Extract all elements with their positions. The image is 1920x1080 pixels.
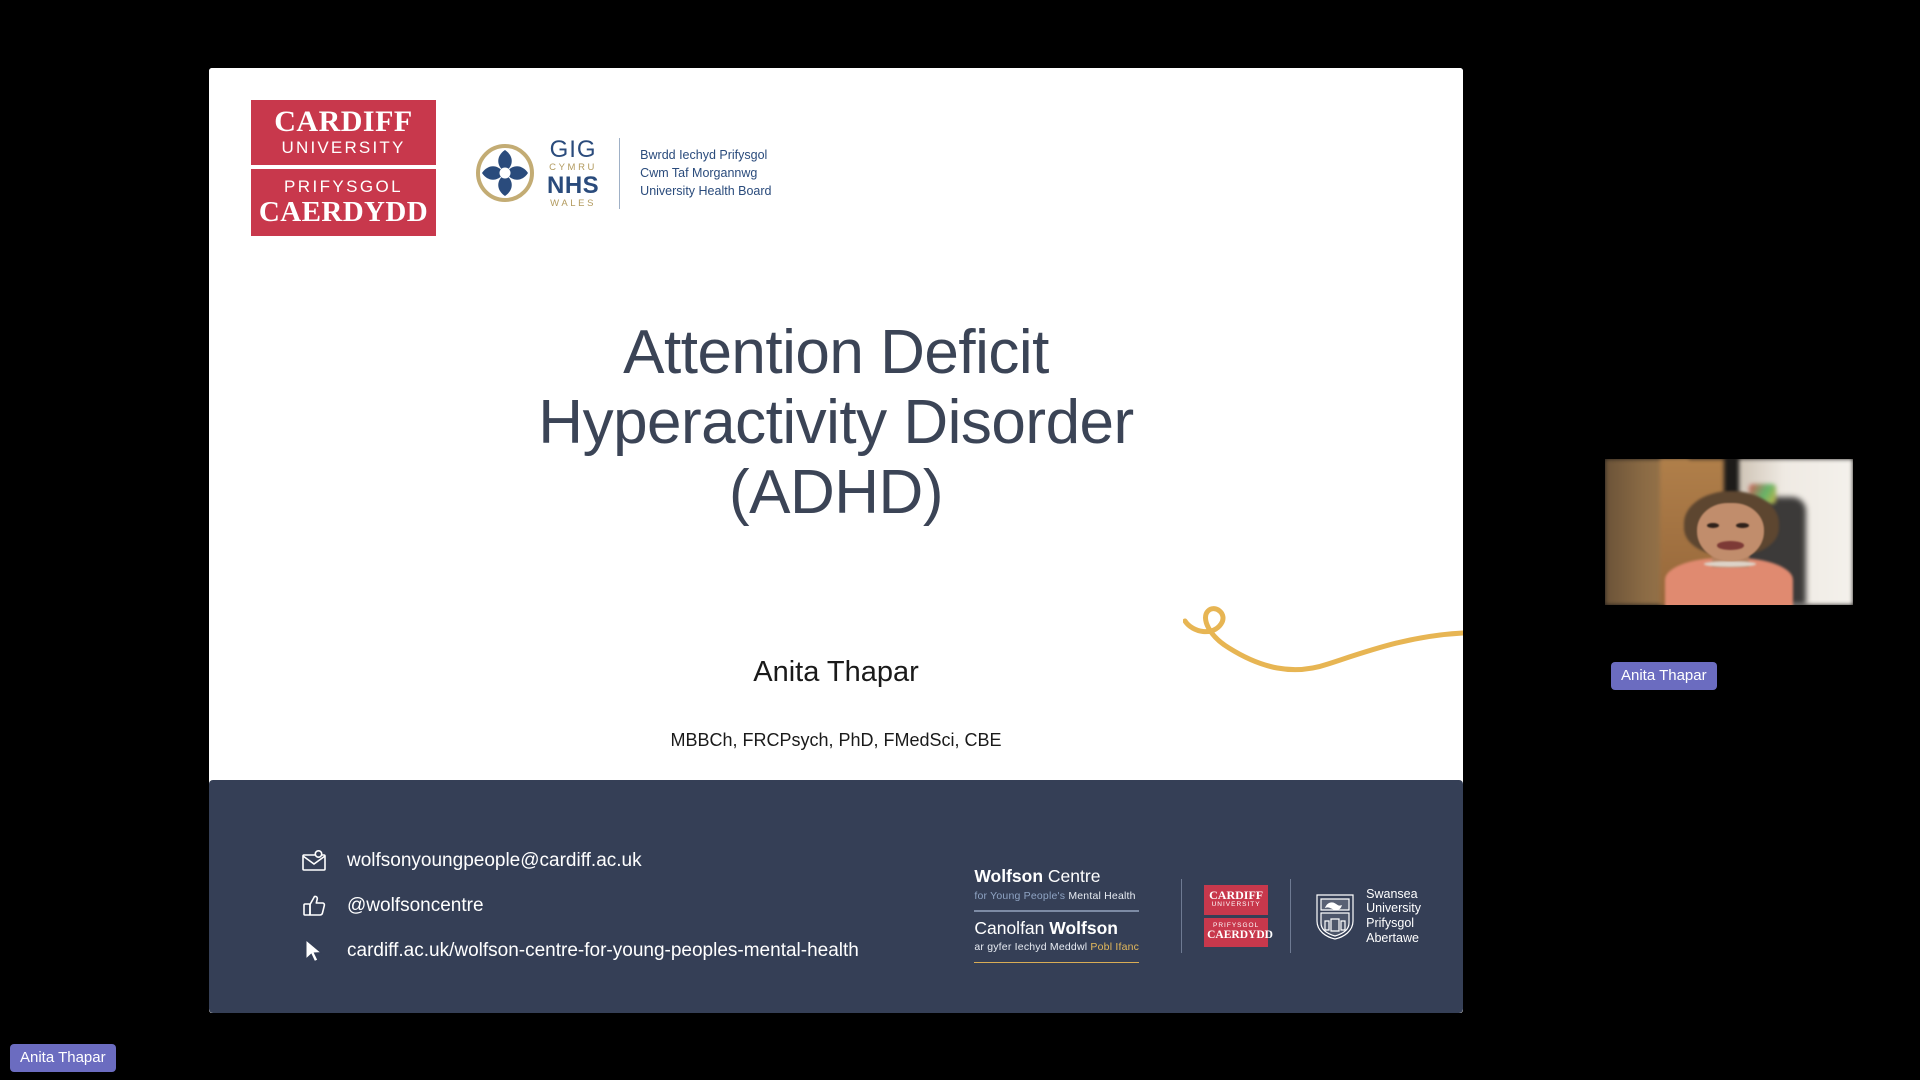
logo-divider bbox=[619, 138, 620, 209]
swansea-line-1: Swansea bbox=[1366, 887, 1421, 902]
slide-title-line-3: (ADHD) bbox=[329, 458, 1343, 528]
participant-video-tile[interactable] bbox=[1605, 459, 1853, 605]
wolfson-welsh-light: Canolfan bbox=[974, 918, 1049, 938]
nhs-wales-text: WALES bbox=[550, 199, 596, 209]
thumbs-up-icon bbox=[301, 893, 327, 919]
wolfson-strap-3: Mental Health bbox=[1065, 890, 1136, 902]
cardiff-footer-english: CARDIFF UNIVERSITY bbox=[1204, 885, 1268, 914]
health-board-line-2: Cwm Taf Morgannwg bbox=[640, 164, 771, 182]
swansea-university-name: Swansea University Prifysgol Abertawe bbox=[1366, 887, 1421, 946]
wolfson-gold-rule bbox=[974, 962, 1139, 964]
meeting-stage: CARDIFF UNIVERSITY PRIFYSGOL CAERDYDD bbox=[0, 0, 1920, 1080]
health-board-line-3: University Health Board bbox=[640, 182, 771, 200]
swansea-university-logo: Swansea University Prifysgol Abertawe bbox=[1313, 887, 1421, 946]
slide-content-area: CARDIFF UNIVERSITY PRIFYSGOL CAERDYDD bbox=[209, 68, 1463, 783]
slide-title: Attention Deficit Hyperactivity Disorder… bbox=[329, 318, 1343, 528]
contact-email[interactable]: wolfsonyoungpeople@cardiff.ac.uk bbox=[301, 848, 859, 874]
cursor-pointer-icon bbox=[301, 938, 327, 964]
cardiff-logo-line-3: PRIFYSGOL bbox=[284, 176, 403, 198]
presentation-slide[interactable]: CARDIFF UNIVERSITY PRIFYSGOL CAERDYDD bbox=[209, 68, 1463, 1013]
swansea-crest-icon bbox=[1313, 891, 1357, 941]
wolfson-welsh-strap-2: Pobl Ifanc bbox=[1090, 941, 1139, 953]
contact-email-text: wolfsonyoungpeople@cardiff.ac.uk bbox=[347, 850, 642, 872]
celtic-knot-icon bbox=[474, 142, 536, 204]
contact-social-text: @wolfsoncentre bbox=[347, 895, 484, 917]
participant-webcam-image bbox=[1605, 459, 1853, 605]
participant-face bbox=[1697, 503, 1764, 561]
nhs-wordmark: GIG CYMRU NHS WALES bbox=[547, 138, 599, 209]
wolfson-strap-1: for bbox=[974, 890, 990, 902]
nhs-gig-text: GIG bbox=[550, 138, 597, 162]
participant-mouth bbox=[1717, 541, 1744, 550]
cardiff-logo-welsh: PRIFYSGOL CAERDYDD bbox=[251, 169, 436, 236]
partner-logos: Wolfson Centre for Young People's Mental… bbox=[974, 867, 1421, 965]
cardiff-logo-line-4: CAERDYDD bbox=[259, 198, 428, 227]
cardiff-footer-line-4: CAERDYDD bbox=[1207, 930, 1265, 942]
swansea-line-3: Prifysgol bbox=[1366, 916, 1421, 931]
contact-website-text: cardiff.ac.uk/wolfson-centre-for-young-p… bbox=[347, 940, 859, 962]
swansea-line-2: University bbox=[1366, 901, 1421, 916]
contact-social[interactable]: @wolfsoncentre bbox=[301, 893, 859, 919]
contact-list: wolfsonyoungpeople@cardiff.ac.uk @wolfso… bbox=[301, 848, 859, 964]
wolfson-welsh-bold: Wolfson bbox=[1049, 918, 1118, 938]
cardiff-university-logo: CARDIFF UNIVERSITY PRIFYSGOL CAERDYDD bbox=[251, 100, 436, 236]
nhs-text: NHS bbox=[547, 174, 599, 198]
cardiff-logo-line-1: CARDIFF bbox=[274, 107, 413, 137]
slide-title-line-2: Hyperactivity Disorder bbox=[329, 388, 1343, 458]
health-board-name: Bwrdd Iechyd Prifysgol Cwm Taf Morgannwg… bbox=[640, 146, 771, 200]
cardiff-footer-welsh: PRIFYSGOL CAERDYDD bbox=[1204, 918, 1268, 947]
nhs-wales-logo: GIG CYMRU NHS WALES Bwrdd Iechyd Prifysg… bbox=[474, 138, 771, 209]
wolfson-english-name: Wolfson Centre bbox=[974, 867, 1139, 885]
slide-title-line-1: Attention Deficit bbox=[329, 318, 1343, 388]
wolfson-centre-logo: Wolfson Centre for Young People's Mental… bbox=[974, 867, 1159, 965]
wolfson-welsh-name: Canolfan Wolfson bbox=[974, 919, 1139, 937]
presenter-name: Anita Thapar bbox=[329, 656, 1343, 689]
partner-divider-2 bbox=[1290, 879, 1291, 953]
wolfson-english-strapline: for Young People's Mental Health bbox=[974, 891, 1139, 903]
swansea-line-4: Abertawe bbox=[1366, 931, 1421, 946]
wolfson-rest-word: Centre bbox=[1043, 866, 1100, 886]
cardiff-university-footer-logo: CARDIFF UNIVERSITY PRIFYSGOL CAERDYDD bbox=[1204, 885, 1268, 946]
cardiff-logo-line-2: UNIVERSITY bbox=[281, 137, 405, 158]
cardiff-footer-line-1: CARDIFF bbox=[1207, 889, 1265, 901]
presenter-credentials: MBBCh, FRCPsych, PhD, FMedSci, CBE bbox=[329, 730, 1343, 751]
partner-divider-1 bbox=[1181, 879, 1182, 953]
wolfson-divider-rule bbox=[974, 910, 1139, 912]
slide-footer: wolfsonyoungpeople@cardiff.ac.uk @wolfso… bbox=[209, 780, 1463, 1013]
cardiff-footer-line-2: UNIVERSITY bbox=[1207, 901, 1265, 909]
contact-website[interactable]: cardiff.ac.uk/wolfson-centre-for-young-p… bbox=[301, 938, 859, 964]
nhs-cymru-text: CYMRU bbox=[549, 163, 597, 173]
wolfson-welsh-strap-1: ar gyfer Iechyd Meddwl bbox=[974, 941, 1090, 953]
envelope-icon bbox=[301, 848, 327, 874]
wolfson-welsh-strapline: ar gyfer Iechyd Meddwl Pobl Ifanc bbox=[974, 942, 1139, 954]
wolfson-strap-2: Young People's bbox=[990, 890, 1065, 902]
participant-name-badge: Anita Thapar bbox=[1611, 662, 1717, 690]
active-speaker-name-badge: Anita Thapar bbox=[10, 1044, 116, 1072]
cardiff-logo-english: CARDIFF UNIVERSITY bbox=[251, 100, 436, 165]
slide-header-logos: CARDIFF UNIVERSITY PRIFYSGOL CAERDYDD bbox=[251, 100, 771, 236]
health-board-line-1: Bwrdd Iechyd Prifysgol bbox=[640, 146, 771, 164]
wolfson-bold-word: Wolfson bbox=[974, 866, 1043, 886]
